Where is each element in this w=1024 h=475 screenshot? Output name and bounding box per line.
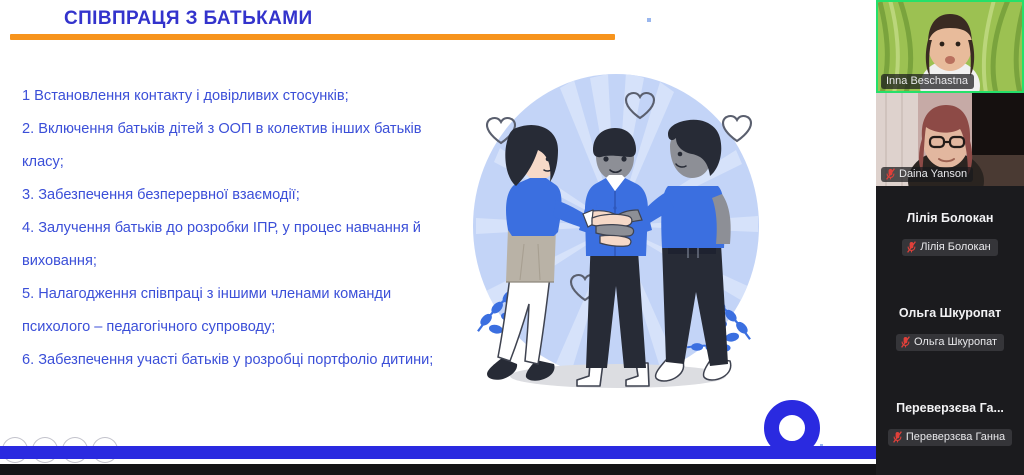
- participant-rail: Inna Beschastna: [876, 0, 1024, 475]
- participant-name: Inna Beschastna: [886, 75, 968, 87]
- list-item: 5. Налагодження співпраці з іншими члена…: [22, 278, 452, 344]
- list-item: 3. Забезпечення безперервної взаємодії;: [22, 179, 452, 212]
- muted-mic-icon: [893, 431, 902, 443]
- muted-mic-icon: [901, 336, 910, 348]
- decorative-speck: [647, 18, 651, 22]
- teamwork-hands-together-illustration: [440, 58, 785, 413]
- participant-name: Лілія Болокан: [920, 241, 991, 253]
- participant-name: Ольга Шкуропат: [914, 336, 997, 348]
- presentation-slide: СПІВПРАЦЯ З БАТЬКАМИ 1 Встановлення конт…: [0, 0, 876, 464]
- participant-slot[interactable]: Ольга Шкуропат Ольга Шкуропат: [876, 281, 1024, 376]
- slide-progress-bar[interactable]: [0, 446, 876, 459]
- list-item: 1 Встановлення контакту і довірливих сто…: [22, 80, 452, 113]
- participant-display-name: Ольга Шкуропат: [899, 306, 1001, 320]
- participant-display-name: Лілія Болокан: [907, 211, 994, 225]
- participant-nametag: Ольга Шкуропат: [896, 334, 1004, 351]
- participant-nametag: Inna Beschastna: [881, 74, 974, 89]
- share-bottom-strip: [0, 464, 876, 475]
- muted-mic-icon: [907, 241, 916, 253]
- video-conference-window: СПІВПРАЦЯ З БАТЬКАМИ 1 Встановлення конт…: [0, 0, 1024, 475]
- muted-mic-icon: [886, 168, 895, 180]
- participant-slot[interactable]: Переверзєва Га... Переверзєва Ганна: [876, 376, 1024, 471]
- title-underline-rule: [10, 34, 615, 40]
- participant-nametag: Лілія Болокан: [902, 239, 998, 256]
- screen-share-area: СПІВПРАЦЯ З БАТЬКАМИ 1 Встановлення конт…: [0, 0, 876, 475]
- video-tile[interactable]: Inna Beschastna: [876, 0, 1024, 93]
- video-tile[interactable]: Daina Yanson: [876, 93, 1024, 186]
- participant-nametag: Daina Yanson: [881, 167, 973, 182]
- list-item: 6. Забезпечення участі батьків у розробц…: [22, 344, 452, 377]
- list-item: 2. Включення батьків дітей з ООП в колек…: [22, 113, 452, 179]
- participant-slot[interactable]: Лілія Болокан Лілія Болокан: [876, 186, 1024, 281]
- list-item: 4. Залучення батьків до розробки ІПР, у …: [22, 212, 452, 278]
- participant-display-name: Переверзєва Га...: [896, 401, 1004, 415]
- page-title: СПІВПРАЦЯ З БАТЬКАМИ: [64, 8, 313, 30]
- bullet-list: 1 Встановлення контакту і довірливих сто…: [22, 80, 452, 377]
- participant-nametag: Переверзєва Ганна: [888, 429, 1012, 446]
- participant-name: Daina Yanson: [899, 168, 967, 180]
- participant-name: Переверзєва Ганна: [906, 431, 1005, 443]
